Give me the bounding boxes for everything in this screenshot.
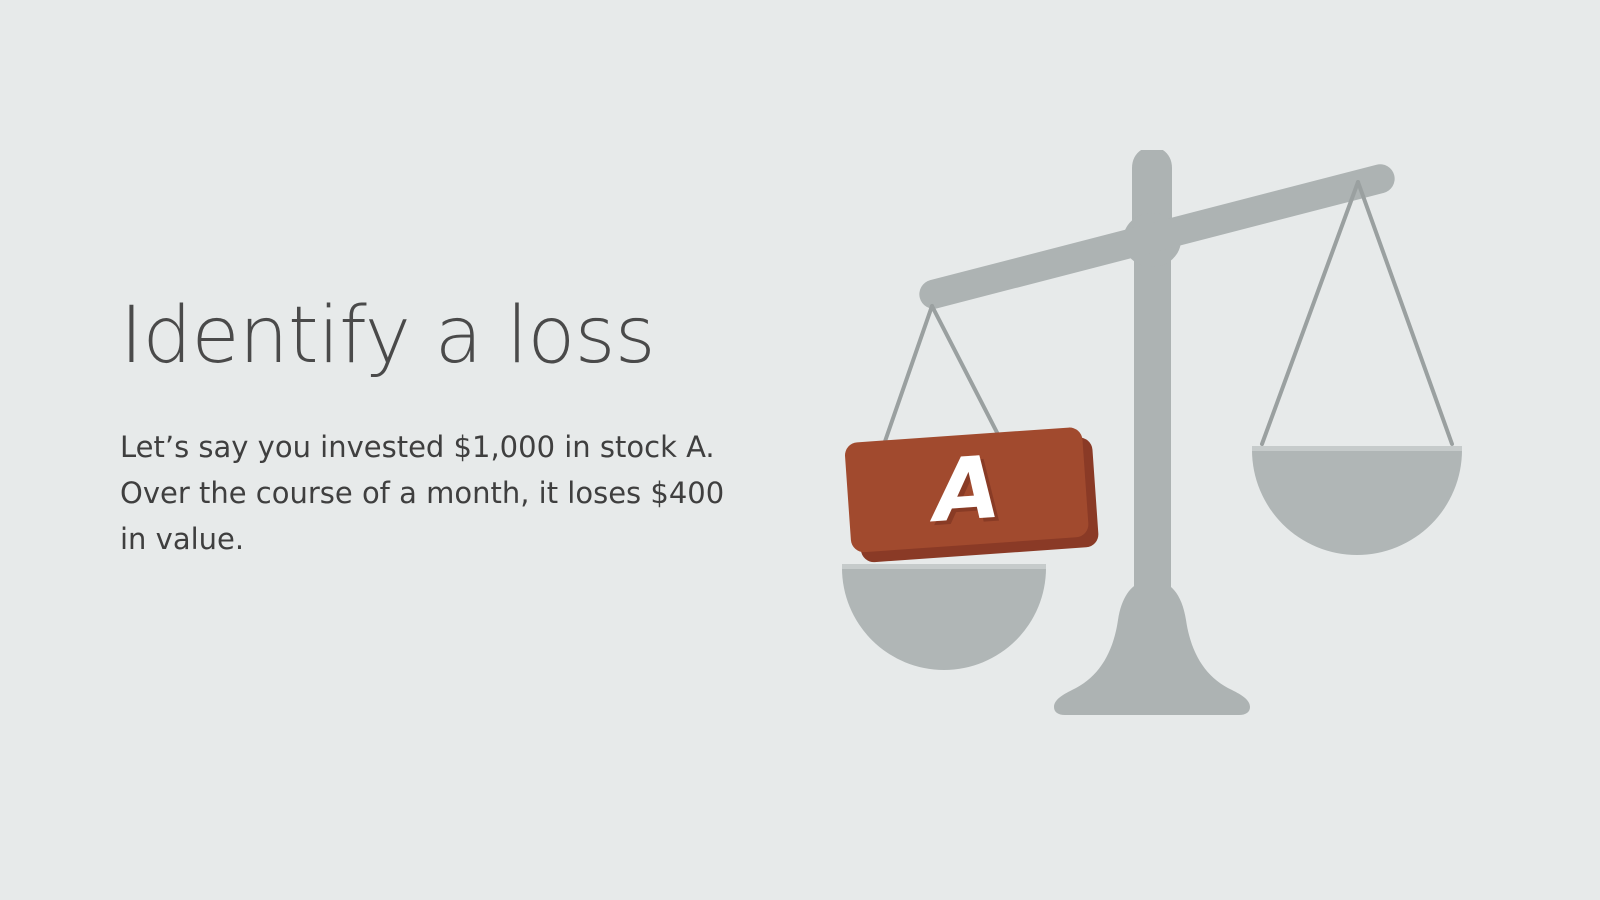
text-column: Identify a loss Let’s say you invested $…: [120, 296, 760, 562]
body-paragraph: Let’s say you invested $1,000 in stock A…: [120, 378, 735, 562]
balance-scale-illustration: A A: [820, 150, 1480, 750]
left-pan-rim: [842, 564, 1046, 569]
page-title: Identify a loss: [120, 296, 760, 378]
scale-post-icon: [1134, 210, 1171, 610]
right-pan-icon: [1252, 450, 1462, 555]
slide-canvas: Identify a loss Let’s say you invested $…: [0, 0, 1600, 900]
weight-block-label: A: [924, 438, 1003, 543]
right-pan-strings-icon: [1262, 182, 1452, 444]
left-pan-icon: [842, 568, 1046, 670]
right-pan-rim: [1252, 446, 1462, 451]
balance-scale-svg: A A: [820, 150, 1480, 750]
left-pan-strings-icon: [882, 306, 1006, 450]
